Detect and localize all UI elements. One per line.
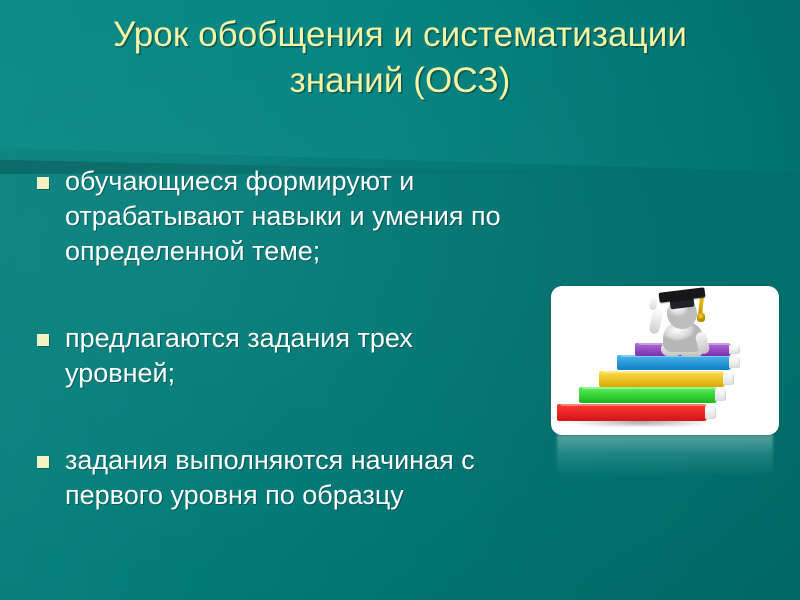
book-pages [723, 373, 734, 385]
book-pages [715, 389, 726, 401]
square-bullet-icon [37, 456, 49, 468]
bullet-item-3: задания выполняются начиная с первого ур… [34, 443, 705, 513]
student-on-book-stack-photo [551, 286, 779, 435]
figure-raised-arm [648, 307, 663, 335]
square-bullet-icon [37, 334, 49, 346]
book-yellow [599, 371, 725, 387]
bullet-item-1-text: обучающиеся формируют и отрабатывают нав… [65, 164, 634, 269]
photo-card [551, 286, 779, 435]
photo-card-inner [551, 286, 779, 435]
bullet-item-1: обучающиеся формируют и отрабатывают нав… [34, 164, 634, 269]
book-red [557, 404, 707, 421]
bullet-item-2-text: предлагаются задания трех уровней; [65, 321, 634, 391]
graduation-cap-tassel-knot [697, 313, 705, 322]
slide-title: Урок обобщения и систематизации знаний (… [40, 12, 760, 104]
slide-bullet-list: обучающиеся формируют и отрабатывают нав… [34, 164, 634, 513]
square-bullet-icon [37, 177, 49, 189]
book-pages [705, 406, 716, 419]
bullet-item-2: предлагаются задания трех уровней; [34, 321, 634, 391]
bullet-item-3-text: задания выполняются начиная с первого ур… [65, 443, 705, 513]
graduate-figure-icon [639, 288, 731, 360]
book-green [579, 387, 717, 403]
presentation-slide: Урок обобщения и систематизации знаний (… [0, 0, 800, 600]
